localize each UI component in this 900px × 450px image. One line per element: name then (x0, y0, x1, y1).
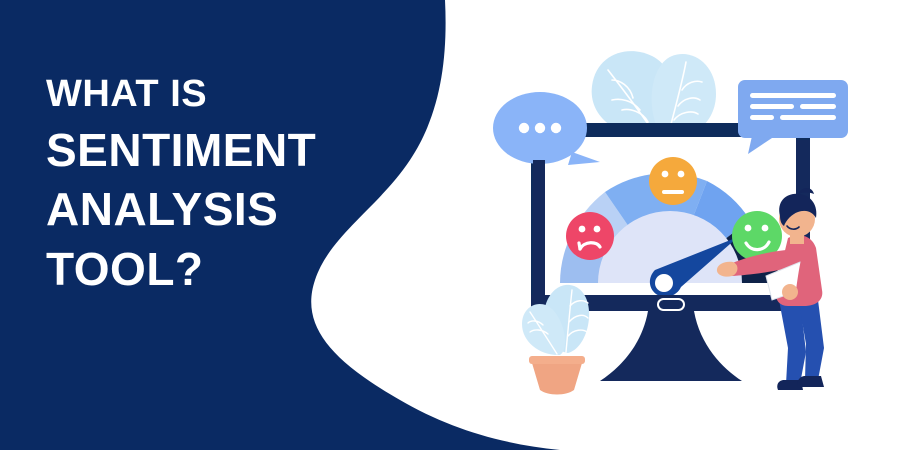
message-line-2b (800, 104, 836, 109)
typing-dot-2 (535, 123, 545, 133)
message-line-3b (780, 115, 836, 120)
sad-face-mouth-tick (579, 243, 580, 249)
person-hand-holding (782, 284, 798, 300)
message-line-3a (750, 115, 774, 120)
sentiment-analysis-illustration (470, 0, 900, 450)
banner-root: WHAT IS SENTIMENT ANALYSIS TOOL? (0, 0, 900, 450)
sad-face-eye-left (579, 226, 586, 233)
neutral-face-circle (649, 157, 697, 205)
typing-dot-3 (551, 123, 561, 133)
neutral-face-eye-left (662, 171, 669, 178)
sad-face-circle (566, 212, 614, 260)
gauge-needle-hub (655, 274, 673, 292)
message-line-2a (750, 104, 794, 109)
sad-face-eye-right (594, 226, 601, 233)
typing-dot-1 (519, 123, 529, 133)
neutral-face-mouth (662, 190, 684, 194)
bubble-stem-left (533, 160, 545, 308)
message-line-1 (750, 93, 836, 98)
person-shoe-front (797, 376, 824, 387)
pot-rim (529, 356, 585, 364)
happy-face-eye-left (745, 225, 752, 232)
happy-face-eye-right (762, 225, 769, 232)
sad-face (566, 212, 614, 260)
monitor-stand (600, 311, 742, 381)
neutral-face (649, 157, 697, 205)
neutral-face-eye-right (678, 171, 685, 178)
pot-body (532, 363, 582, 395)
